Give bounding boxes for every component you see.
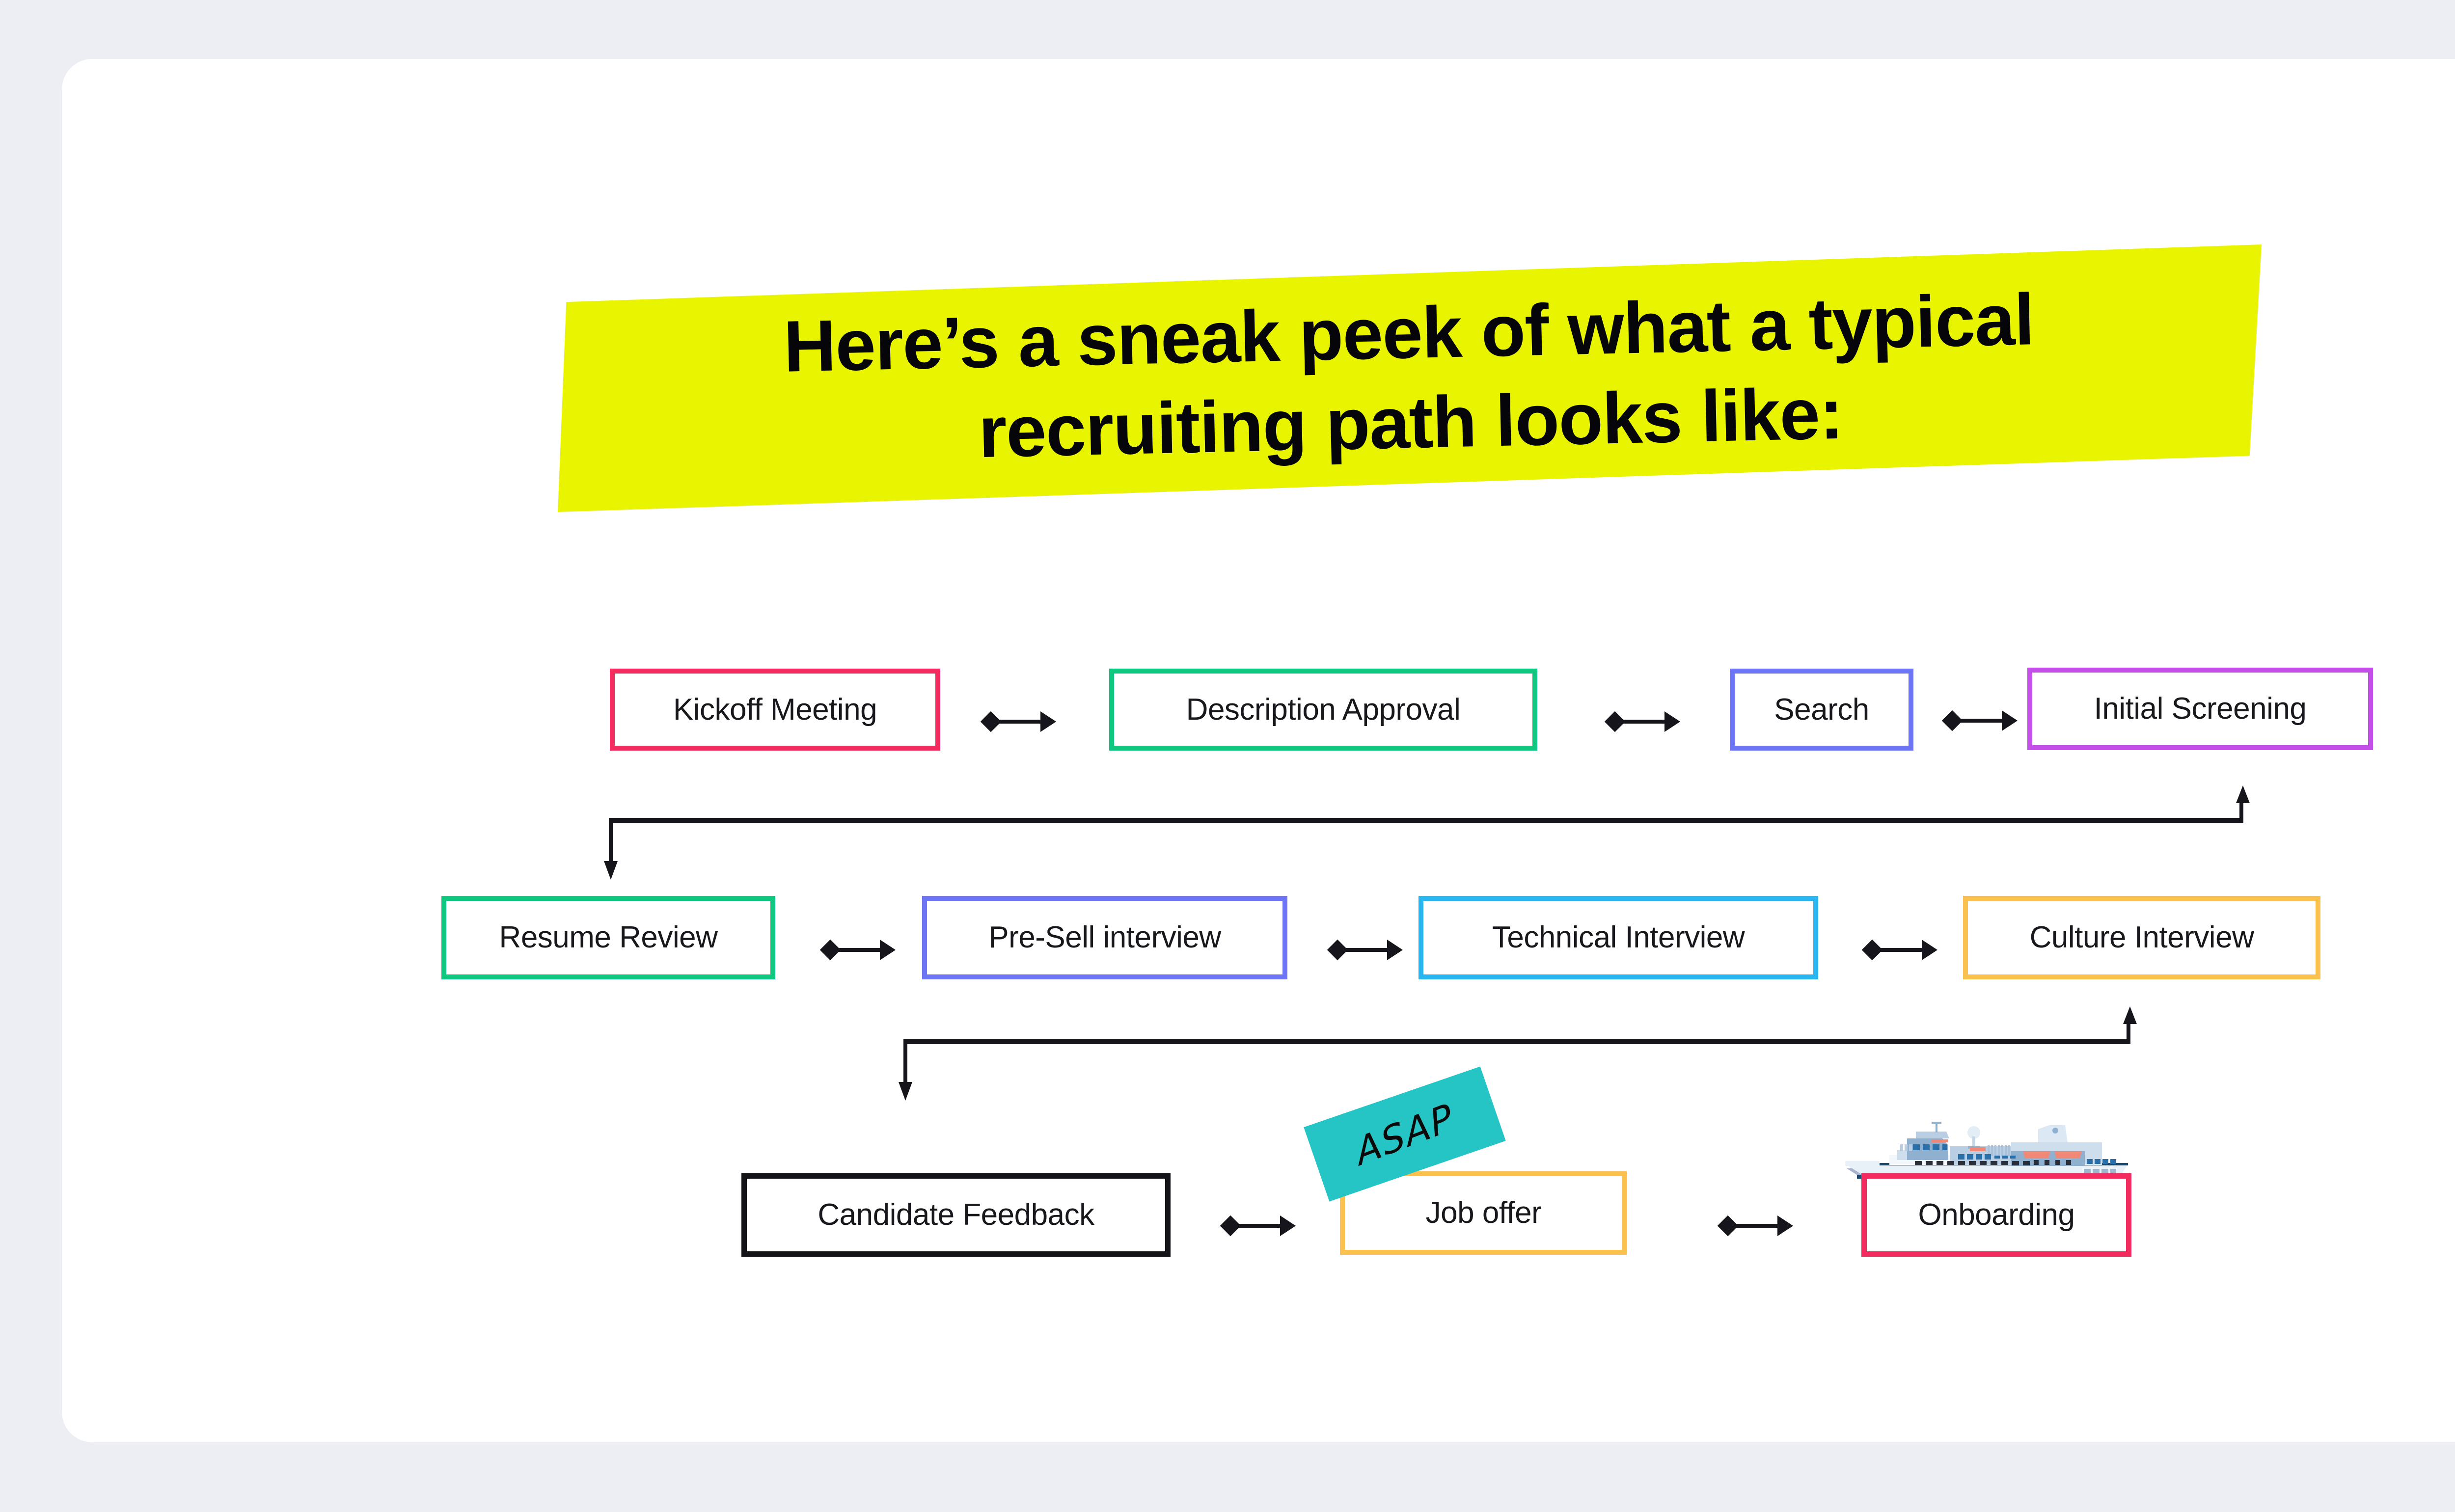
arrow-head-icon bbox=[1777, 1215, 1793, 1236]
connector-job-offer-to-onboarding bbox=[1720, 1211, 1793, 1241]
flow-node-label: Initial Screening bbox=[2094, 694, 2307, 724]
arrow-shaft bbox=[1621, 720, 1666, 724]
connector-candidate-feedback-to-job-offer bbox=[1223, 1211, 1296, 1241]
arrow-head-icon bbox=[1387, 940, 1403, 960]
arrow-tail-diamond-icon bbox=[1942, 710, 1963, 731]
arrow-tail-diamond-icon bbox=[1718, 1215, 1738, 1236]
page-title-line-2: recruiting path looks like: bbox=[978, 369, 1844, 477]
arrow-tail-diamond-icon bbox=[981, 711, 1001, 732]
flow-node-label: Kickoff Meeting bbox=[673, 695, 877, 725]
connector-kickoff-to-description bbox=[983, 707, 1056, 736]
arrow-shaft bbox=[1236, 1224, 1282, 1228]
arrow-head-icon bbox=[1280, 1215, 1296, 1236]
arrow-tail-diamond-icon bbox=[1605, 711, 1625, 732]
arrow-shaft bbox=[1734, 1224, 1779, 1228]
page-title: Here’s a sneak peek of what a typical re… bbox=[555, 226, 2264, 531]
flow-node-initial-screening[interactable]: Initial Screening bbox=[2027, 668, 2373, 750]
flow-node-description-approval[interactable]: Description Approval bbox=[1109, 669, 1537, 751]
flow-node-pre-sell-interview[interactable]: Pre-Sell interview bbox=[922, 896, 1287, 979]
page-title-banner: Here’s a sneak peek of what a typical re… bbox=[558, 244, 2262, 512]
connector-initial-screening-to-resume-review bbox=[597, 785, 2259, 884]
arrow-tail-diamond-icon bbox=[1220, 1215, 1241, 1236]
flow-node-search[interactable]: Search bbox=[1730, 669, 1913, 751]
flow-node-technical-interview[interactable]: Technical Interview bbox=[1418, 896, 1818, 979]
flow-node-label: Candidate Feedback bbox=[818, 1200, 1094, 1230]
arrow-head-icon bbox=[2002, 710, 2018, 731]
arrow-shaft bbox=[1958, 719, 2003, 723]
connector-technical-to-culture bbox=[1865, 935, 1937, 965]
flow-node-label: Culture Interview bbox=[2030, 922, 2254, 953]
flow-node-resume-review[interactable]: Resume Review bbox=[441, 896, 775, 979]
arrow-shaft bbox=[1343, 948, 1389, 952]
flow-node-label: Technical Interview bbox=[1492, 922, 1745, 953]
arrow-shaft bbox=[836, 948, 881, 952]
flow-node-label: Pre-Sell interview bbox=[988, 922, 1221, 953]
flow-node-culture-interview[interactable]: Culture Interview bbox=[1963, 896, 2320, 979]
arrow-tail-diamond-icon bbox=[820, 940, 841, 960]
flow-node-label: Description Approval bbox=[1186, 695, 1461, 725]
main-card: Here’s a sneak peek of what a typical re… bbox=[62, 59, 2455, 1442]
flow-node-label: Job offer bbox=[1426, 1198, 1542, 1228]
connector-description-to-search bbox=[1608, 707, 1680, 736]
arrow-head-icon bbox=[1040, 711, 1056, 732]
flow-node-candidate-feedback[interactable]: Candidate Feedback bbox=[741, 1173, 1171, 1257]
arrow-head-icon bbox=[880, 940, 896, 960]
connector-culture-interview-to-candidate-feedback bbox=[892, 1006, 2139, 1105]
connector-resume-review-to-pre-sell bbox=[823, 935, 896, 965]
flow-node-onboarding[interactable]: Onboarding bbox=[1861, 1173, 2131, 1257]
arrow-shaft bbox=[1878, 948, 1923, 952]
page-title-line-1: Here’s a sneak peek of what a typical bbox=[783, 275, 2035, 392]
flow-node-label: Search bbox=[1774, 695, 1869, 725]
flow-node-label: Resume Review bbox=[499, 922, 718, 953]
arrow-tail-diamond-icon bbox=[1327, 940, 1348, 960]
flow-node-job-offer[interactable]: Job offer bbox=[1340, 1171, 1627, 1255]
arrow-tail-diamond-icon bbox=[1862, 940, 1882, 960]
asap-sticker-label: ASAP bbox=[1351, 1094, 1458, 1174]
arrow-head-icon bbox=[1664, 711, 1680, 732]
flow-node-label: Onboarding bbox=[1918, 1200, 2074, 1230]
arrow-head-icon bbox=[1922, 940, 1937, 960]
flow-node-kickoff-meeting[interactable]: Kickoff Meeting bbox=[610, 669, 940, 751]
arrow-shaft bbox=[997, 720, 1042, 724]
connector-pre-sell-to-technical bbox=[1330, 935, 1403, 965]
connector-search-to-initial-screening bbox=[1945, 706, 2018, 735]
